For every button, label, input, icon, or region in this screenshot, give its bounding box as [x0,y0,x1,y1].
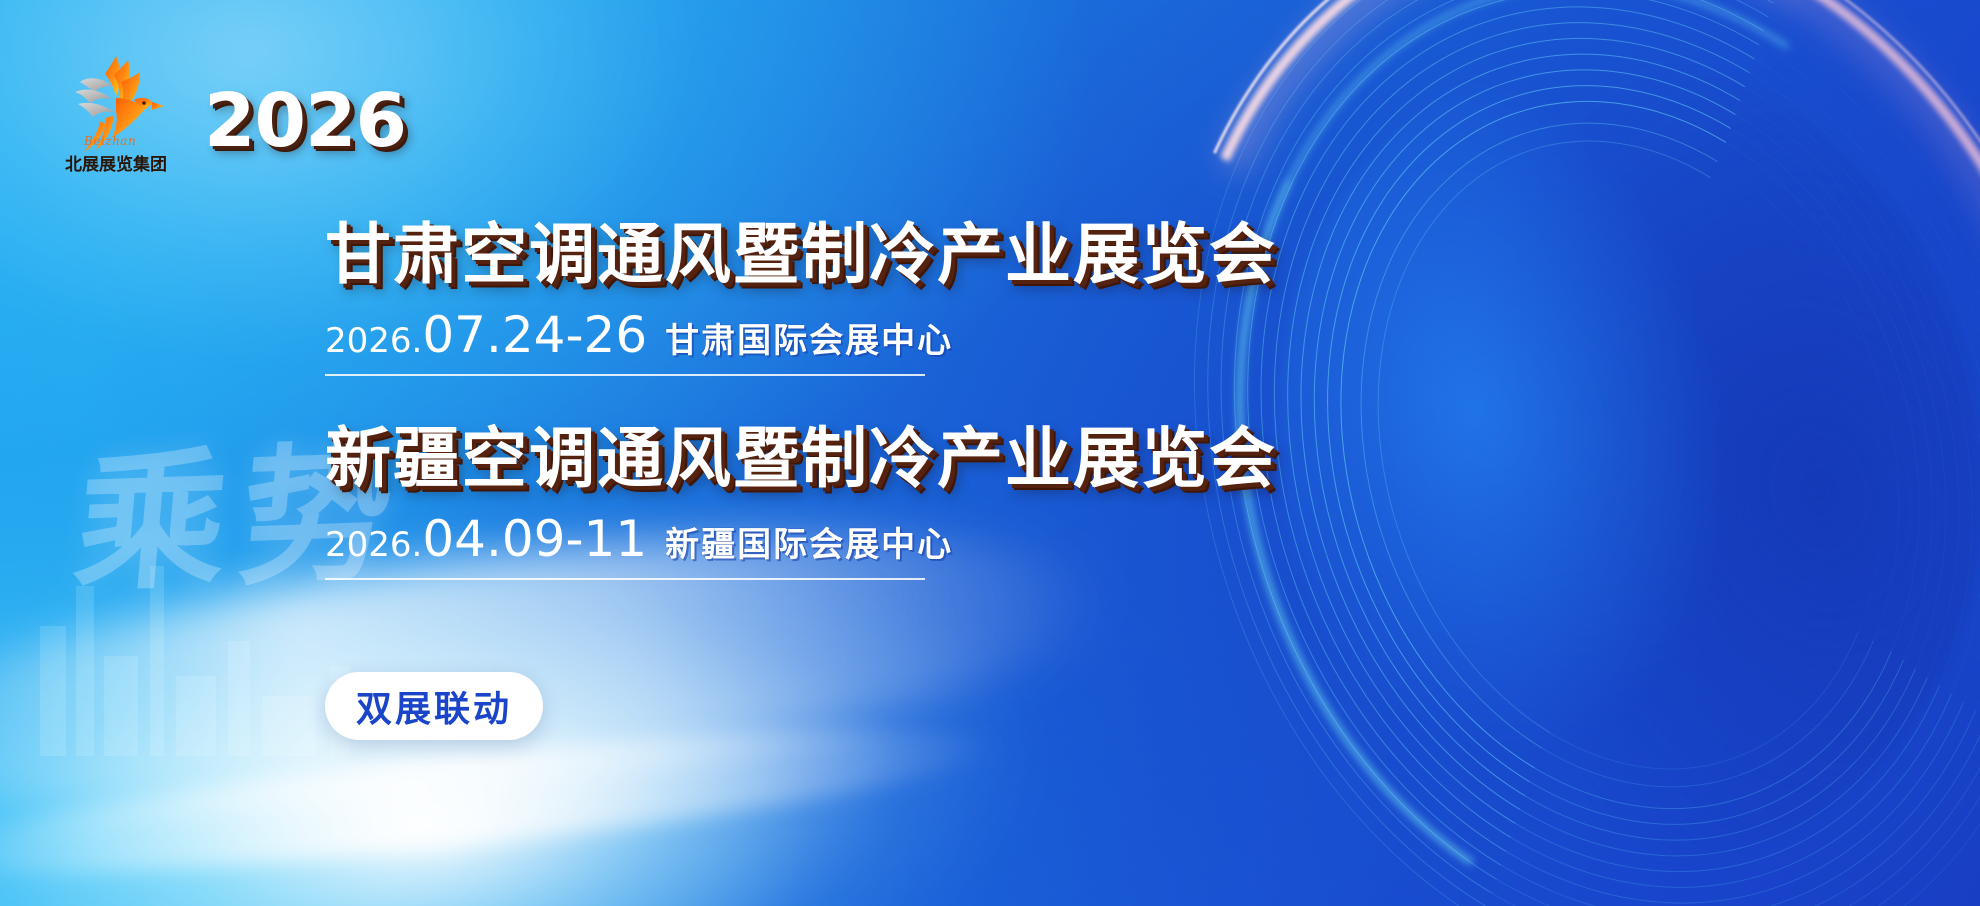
show-venue-xinjiang: 新疆国际会展中心 [665,517,953,566]
show-block-gansu: 甘肃空调通风暨制冷产业展览会 2026.07.24-26 甘肃国际会展中心 [325,218,1325,376]
banner-content: 甘肃空调通风暨制冷产业展览会 2026.07.24-26 甘肃国际会展中心 新疆… [325,218,1325,580]
show-date-monthday-xinjiang: 04.09-11 [422,510,647,568]
show-date-year-xinjiang: 2026. [325,525,422,565]
exhibition-banner: 乘势 [0,0,1980,906]
show-date-year-gansu: 2026. [325,321,422,361]
show-meta-gansu: 2026.07.24-26 甘肃国际会展中心 [325,306,925,376]
dual-show-cta-button[interactable]: 双展联动 [325,672,543,740]
show-venue-gansu: 甘肃国际会展中心 [665,313,953,362]
logo-chinese-name: 北展展览集团 [60,150,172,175]
phoenix-bird-icon: Beizhan 北展展览集团 [58,46,170,186]
show-meta-xinjiang: 2026.04.09-11 新疆国际会展中心 [325,510,925,580]
show-date-monthday-gansu: 07.24-26 [422,306,647,364]
logo-english-name: Beizhan [84,134,136,148]
show-date-xinjiang: 2026.04.09-11 [325,510,647,568]
block-spacer [325,376,1325,422]
show-block-xinjiang: 新疆空调通风暨制冷产业展览会 2026.04.09-11 新疆国际会展中心 [325,422,1325,580]
show-date-gansu: 2026.07.24-26 [325,306,647,364]
show-title-gansu: 甘肃空调通风暨制冷产业展览会 [325,218,1325,292]
show-title-xinjiang: 新疆空调通风暨制冷产业展览会 [325,422,1325,496]
brand-logo-block: Beizhan 北展展览集团 2026 [58,46,406,186]
year-label: 2026 [204,84,406,158]
